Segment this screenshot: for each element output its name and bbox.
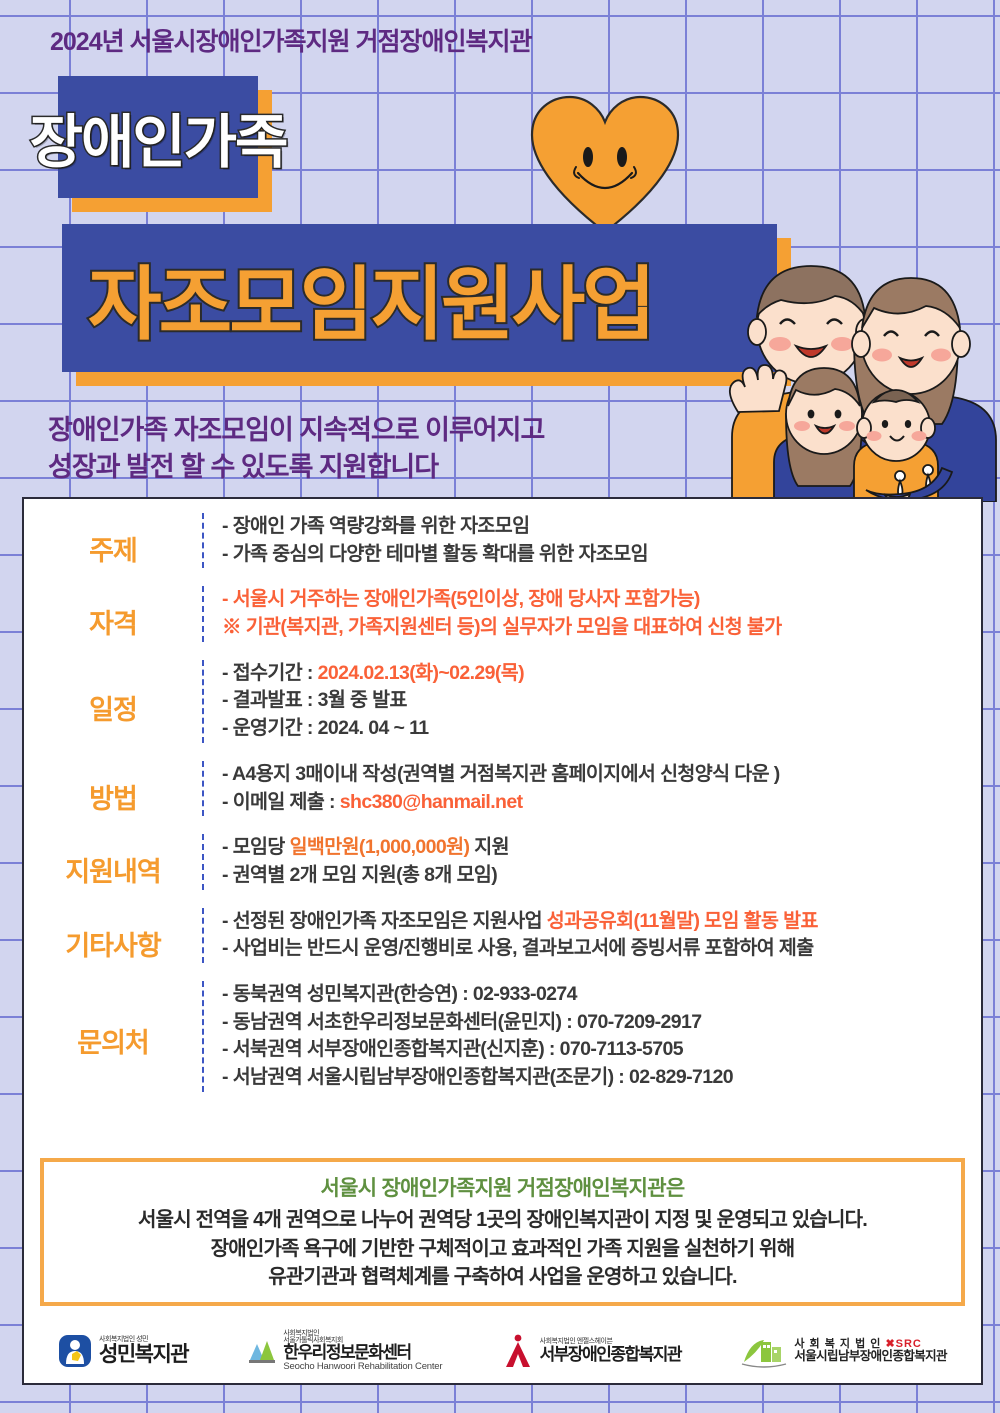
about-note-inner: 서울시 장애인가족지원 거점장애인복지관은 서울시 전역을 4개 권역으로 나누… <box>42 1160 963 1304</box>
details-row: 지원내역- 모임당 일백만원(1,000,000원) 지원- 권역별 2개 모임… <box>24 834 981 889</box>
title-line-2: 자조모임지원사업 <box>88 240 653 356</box>
details-line: ※ 기관(복지관, 가족지원센터 등)의 실무자가 모임을 대표하여 신청 불가 <box>222 614 981 642</box>
details-row: 자격- 서울시 거주하는 장애인가족(5인이상, 장애 당사자 포함가능)※ 기… <box>24 586 981 641</box>
logo-src-nambu: 사 회 복 지 법 인 ✖SRC 서울시립남부장애인종합복지관 <box>741 1334 947 1368</box>
about-note-heading: 서울시 장애인가족지원 거점장애인복지관은 <box>320 1172 684 1202</box>
details-rows: 주제- 장애인 가족 역량강화를 위한 자조모임- 가족 중심의 다양한 테마별… <box>24 499 981 1092</box>
details-row-value: - 접수기간 : 2024.02.13(화)~02.29(목)- 결과발표 : … <box>204 660 981 743</box>
logo-hanwoori-sub: Seocho Hanwoori Rehabilitation Center <box>283 1362 442 1372</box>
smiling-heart-icon <box>530 95 680 235</box>
details-text: - 결과발표 : 3월 중 발표 <box>222 689 407 711</box>
details-text: - 가족 중심의 다양한 테마별 활동 확대를 위한 자조모임 <box>222 543 648 565</box>
details-text: - 동남권역 서초한우리정보문화센터(윤민지) : 070-7209-2917 <box>222 1011 701 1033</box>
poster-kicker: 2024년 서울시장애인가족지원 거점장애인복지관 <box>50 22 532 58</box>
details-line: - 동북권역 성민복지관(한승연) : 02-933-0274 <box>222 981 981 1009</box>
details-row-value: - 모임당 일백만원(1,000,000원) 지원- 권역별 2개 모임 지원(… <box>204 834 981 889</box>
details-line: - 사업비는 반드시 운영/진행비로 사용, 결과보고서에 증빙서류 포함하여 … <box>222 935 981 963</box>
details-text: - 동북권역 성민복지관(한승연) : 02-933-0274 <box>222 983 577 1005</box>
details-text: shc380@hanmail.net <box>340 791 523 813</box>
details-row-label: 기타사항 <box>24 908 202 963</box>
logo-hanwoori: 사회복지법인 서울가톨릭사회복지회 한우리정보문화센터 Seocho Hanwo… <box>248 1330 442 1373</box>
details-row-label: 문의처 <box>24 981 202 1060</box>
details-text: - 서울시 거주하는 장애인가족(5인이상, 장애 당사자 포함가능) <box>222 588 700 610</box>
details-line: - 모임당 일백만원(1,000,000원) 지원 <box>222 834 981 862</box>
details-row: 주제- 장애인 가족 역량강화를 위한 자조모임- 가족 중심의 다양한 테마별… <box>24 513 981 568</box>
details-row-label: 일정 <box>24 660 202 727</box>
seobu-logo-icon <box>503 1334 533 1368</box>
details-text: - 선정된 장애인가족 자조모임은 지원사업 <box>222 910 547 932</box>
details-row-value: - A4용지 3매이내 작성(권역별 거점복지관 홈페이지에서 신청양식 다운 … <box>204 761 981 816</box>
title-line-1: 장애인가족 <box>30 95 287 179</box>
details-line: - 운영기간 : 2024. 04 ~ 11 <box>222 715 981 743</box>
details-text: - 사업비는 반드시 운영/진행비로 사용, 결과보고서에 증빙서류 포함하여 … <box>222 937 814 959</box>
details-row-value: - 장애인 가족 역량강화를 위한 자조모임- 가족 중심의 다양한 테마별 활… <box>204 513 981 568</box>
logo-src-line2: 서울시립남부장애인종합복지관 <box>794 1350 947 1363</box>
partner-logos-strip: 사회복지법인 성민 성민복지관 사회복지법인 서울가톨릭사회복지회 한우리정보문… <box>40 1318 965 1384</box>
details-line: - 이메일 제출 : shc380@hanmail.net <box>222 789 981 817</box>
details-row: 기타사항- 선정된 장애인가족 자조모임은 지원사업 성과공유회(11월말) 모… <box>24 908 981 963</box>
details-text: - 모임당 <box>222 836 290 858</box>
details-row-label: 방법 <box>24 761 202 816</box>
details-text: - 이메일 제출 : <box>222 791 340 813</box>
details-line: - 장애인 가족 역량강화를 위한 자조모임 <box>222 513 981 541</box>
logo-seongmin-main: 성민복지관 <box>99 1344 188 1366</box>
details-row-label: 주제 <box>24 513 202 568</box>
about-note-box: 서울시 장애인가족지원 거점장애인복지관은 서울시 전역을 4개 권역으로 나누… <box>40 1158 965 1306</box>
family-illustration <box>714 262 1000 502</box>
details-text: - 운영기간 : 2024. 04 ~ 11 <box>222 717 429 739</box>
details-line: - 서울시 거주하는 장애인가족(5인이상, 장애 당사자 포함가능) <box>222 586 981 614</box>
details-row-label: 지원내역 <box>24 834 202 889</box>
logo-seobu-main: 서부장애인종합복지관 <box>540 1346 681 1364</box>
details-text: - 권역별 2개 모임 지원(총 8개 모임) <box>222 864 497 886</box>
details-text: 2024.02.13(화)~02.29(목) <box>318 662 524 684</box>
logo-seobu: 사회복지법인 엔젤스헤이븐 서부장애인종합복지관 <box>503 1334 681 1368</box>
details-line: - 권역별 2개 모임 지원(총 8개 모임) <box>222 862 981 890</box>
details-text: 지원 <box>469 836 509 858</box>
hanwoori-logo-icon <box>248 1338 276 1364</box>
title-box-2: 자조모임지원사업 <box>62 224 777 372</box>
src-nambu-logo-icon <box>741 1334 787 1368</box>
details-row-value: - 서울시 거주하는 장애인가족(5인이상, 장애 당사자 포함가능)※ 기관(… <box>204 586 981 641</box>
details-line: - A4용지 3매이내 작성(권역별 거점복지관 홈페이지에서 신청양식 다운 … <box>222 761 981 789</box>
details-line: - 서남권역 서울시립남부장애인종합복지관(조문기) : 02-829-7120 <box>222 1064 981 1092</box>
details-line: - 선정된 장애인가족 자조모임은 지원사업 성과공유회(11월말) 모임 활동… <box>222 908 981 936</box>
details-line: - 결과발표 : 3월 중 발표 <box>222 687 981 715</box>
details-row: 문의처- 동북권역 성민복지관(한승연) : 02-933-0274- 동남권역… <box>24 981 981 1092</box>
details-row: 일정- 접수기간 : 2024.02.13(화)~02.29(목)- 결과발표 … <box>24 660 981 743</box>
details-line: - 가족 중심의 다양한 테마별 활동 확대를 위한 자조모임 <box>222 541 981 569</box>
details-row-value: - 선정된 장애인가족 자조모임은 지원사업 성과공유회(11월말) 모임 활동… <box>204 908 981 963</box>
details-text: - A4용지 3매이내 작성(권역별 거점복지관 홈페이지에서 신청양식 다운 … <box>222 763 780 785</box>
details-text: - 장애인 가족 역량강화를 위한 자조모임 <box>222 515 529 537</box>
details-line: - 동남권역 서초한우리정보문화센터(윤민지) : 070-7209-2917 <box>222 1009 981 1037</box>
details-line: - 서북권역 서부장애인종합복지관(신지훈) : 070-7113-5705 <box>222 1036 981 1064</box>
details-text: 성과공유회(11월말) 모임 활동 발표 <box>547 910 818 932</box>
details-text: - 서남권역 서울시립남부장애인종합복지관(조문기) : 02-829-7120 <box>222 1066 733 1088</box>
details-text: ※ 기관(복지관, 가족지원센터 등)의 실무자가 모임을 대표하여 신청 불가 <box>222 616 782 638</box>
about-note-body: 서울시 전역을 4개 권역으로 나누어 권역당 1곳의 장애인복지관이 지정 및… <box>138 1206 867 1291</box>
poster-subtitle: 장애인가족 자조모임이 지속적으로 이루어지고 성장과 발전 할 수 있도록 지… <box>48 412 544 487</box>
logo-hanwoori-main: 한우리정보문화센터 <box>283 1344 442 1362</box>
logo-seongmin: 사회복지법인 성민 성민복지관 <box>58 1334 188 1368</box>
details-row-value: - 동북권역 성민복지관(한승연) : 02-933-0274- 동남권역 서초… <box>204 981 981 1092</box>
details-line: - 접수기간 : 2024.02.13(화)~02.29(목) <box>222 660 981 688</box>
seongmin-logo-icon <box>58 1334 92 1368</box>
logo-src-mark: ✖SRC <box>885 1338 921 1350</box>
logo-hanwoori-sup: 사회복지법인 서울가톨릭사회복지회 <box>283 1330 442 1345</box>
details-row-label: 자격 <box>24 586 202 641</box>
details-text: - 접수기간 : <box>222 662 318 684</box>
details-text: 일백만원(1,000,000원) <box>290 836 470 858</box>
details-row: 방법- A4용지 3매이내 작성(권역별 거점복지관 홈페이지에서 신청양식 다… <box>24 761 981 816</box>
logo-src-corp: 사 회 복 지 법 인 <box>794 1338 881 1350</box>
details-text: - 서북권역 서부장애인종합복지관(신지훈) : 070-7113-5705 <box>222 1038 683 1060</box>
title-box-1: 장애인가족 <box>58 76 258 198</box>
